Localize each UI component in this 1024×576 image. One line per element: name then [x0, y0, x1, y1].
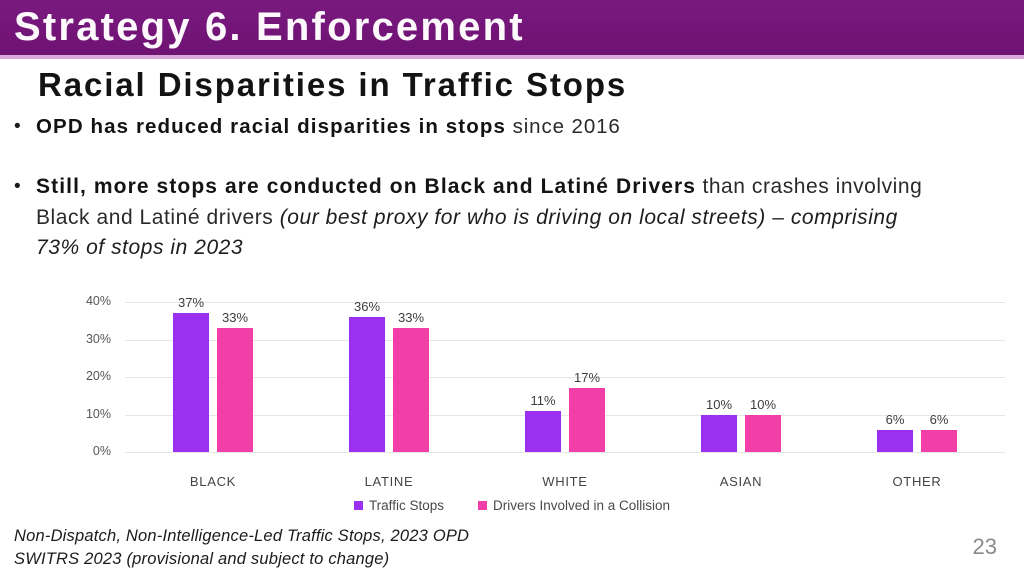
chart-bar[interactable] [701, 415, 737, 453]
bullet-1-normal: since 2016 [506, 115, 621, 138]
chart-bar-group: 6%6% [829, 302, 1005, 452]
page-title: Racial Disparities in Traffic Stops [38, 66, 627, 104]
chart-bar-value-label: 33% [205, 310, 265, 325]
slide-header-band: Strategy 6. Enforcement [0, 0, 1024, 55]
chart-bar[interactable] [393, 328, 429, 452]
chart-plot-area: 0%10%20%30%40%BLACK37%33%LATINE36%33%WHI… [125, 302, 1005, 452]
chart-bar-value-label: 10% [733, 397, 793, 412]
page-number: 23 [973, 534, 997, 560]
chart-y-axis-label: 40% [63, 294, 111, 308]
chart-bar[interactable] [173, 313, 209, 452]
chart-y-axis-label: 0% [63, 444, 111, 458]
bullet-2-strong: Still, more stops are conducted on Black… [36, 175, 696, 198]
chart-y-axis-label: 20% [63, 369, 111, 383]
legend-label: Drivers Involved in a Collision [493, 498, 670, 513]
bullet-item-1: • OPD has reduced racial disparities in … [14, 112, 974, 142]
source-footnote-line-2: SWITRS 2023 (provisional and subject to … [14, 548, 469, 571]
chart-bar-value-label: 6% [909, 412, 969, 427]
chart-bar-value-label: 11% [513, 393, 573, 408]
chart-bar-value-label: 37% [161, 295, 221, 310]
source-footnote-line-1: Non-Dispatch, Non-Intelligence-Led Traff… [14, 525, 469, 548]
chart-bar[interactable] [569, 388, 605, 452]
bullet-marker-icon: • [14, 172, 36, 202]
chart-bar-group: 11%17% [477, 302, 653, 452]
bullet-text-2: Still, more stops are conducted on Black… [36, 172, 936, 264]
chart-category-label: LATINE [319, 474, 459, 489]
chart-bar[interactable] [217, 328, 253, 452]
chart-category-label: WHITE [495, 474, 635, 489]
chart-bar[interactable] [921, 430, 957, 453]
chart-bar-group: 37%33% [125, 302, 301, 452]
chart-bar-value-label: 33% [381, 310, 441, 325]
chart-bar[interactable] [877, 430, 913, 453]
chart-y-axis-label: 30% [63, 332, 111, 346]
chart-bar[interactable] [525, 411, 561, 452]
slide-header-title: Strategy 6. Enforcement [14, 3, 525, 51]
bullet-marker-icon: • [14, 112, 36, 142]
bullet-text-1: OPD has reduced racial disparities in st… [36, 112, 621, 142]
chart-bar-group: 10%10% [653, 302, 829, 452]
chart-category-label: OTHER [847, 474, 987, 489]
legend-label: Traffic Stops [369, 498, 444, 513]
chart-gridline [125, 452, 1005, 453]
bullet-item-2: • Still, more stops are conducted on Bla… [14, 172, 974, 264]
chart-bar-value-label: 17% [557, 370, 617, 385]
bullet-1-strong: OPD has reduced racial disparities in st… [36, 115, 506, 138]
header-underline [0, 55, 1024, 59]
chart-bar[interactable] [745, 415, 781, 453]
legend-swatch-icon [478, 501, 487, 510]
chart-bar-group: 36%33% [301, 302, 477, 452]
racial-disparities-bar-chart: 0%10%20%30%40%BLACK37%33%LATINE36%33%WHI… [0, 288, 1024, 528]
chart-y-axis-label: 10% [63, 407, 111, 421]
chart-bar[interactable] [349, 317, 385, 452]
chart-legend: Traffic StopsDrivers Involved in a Colli… [0, 498, 1024, 513]
legend-item[interactable]: Drivers Involved in a Collision [478, 498, 670, 513]
chart-category-label: BLACK [143, 474, 283, 489]
chart-category-label: ASIAN [671, 474, 811, 489]
legend-item[interactable]: Traffic Stops [354, 498, 444, 513]
source-footnote: Non-Dispatch, Non-Intelligence-Led Traff… [14, 525, 469, 571]
legend-swatch-icon [354, 501, 363, 510]
